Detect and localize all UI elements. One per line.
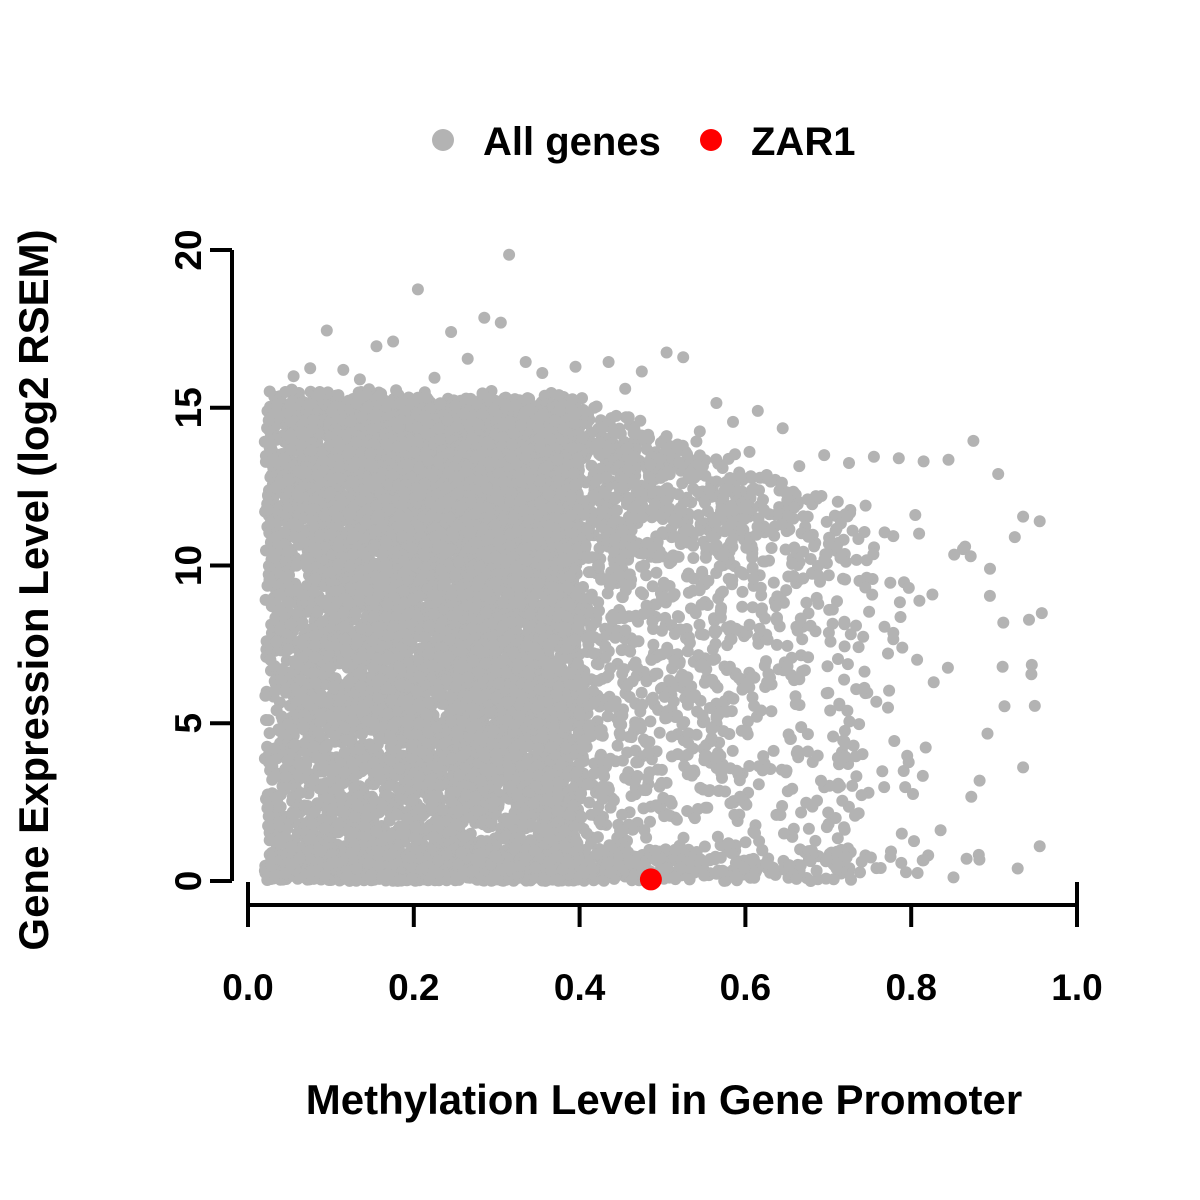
- data-point: [1036, 607, 1048, 619]
- data-point: [822, 660, 834, 672]
- data-point: [942, 662, 954, 674]
- data-point: [928, 676, 940, 688]
- data-point: [768, 577, 780, 589]
- data-point: [832, 496, 844, 508]
- data-point: [911, 654, 923, 666]
- data-point: [847, 525, 859, 537]
- data-point: [857, 631, 869, 643]
- data-point: [850, 620, 862, 632]
- data-point: [859, 666, 871, 678]
- data-point: [913, 595, 925, 607]
- data-point: [838, 674, 850, 686]
- data-point: [888, 735, 900, 747]
- data-point: [920, 742, 932, 754]
- data-point: [647, 639, 659, 651]
- data-point: [1023, 614, 1035, 626]
- data-point: [997, 617, 1009, 629]
- data-point: [792, 745, 804, 757]
- data-point: [812, 750, 824, 762]
- data-point: [917, 770, 929, 782]
- data-point: [895, 857, 907, 869]
- data-point: [768, 745, 780, 757]
- data-point: [781, 640, 793, 652]
- data-point: [884, 577, 896, 589]
- data-points-layer: [259, 249, 1048, 891]
- data-point: [926, 589, 938, 601]
- data-point: [882, 648, 894, 660]
- data-point: [753, 778, 765, 790]
- data-point: [687, 552, 699, 564]
- data-point: [839, 618, 851, 630]
- data-point: [871, 862, 883, 874]
- data-point: [650, 567, 662, 579]
- plot-canvas: 05101520 0.00.20.40.60.81.0 Gene Express…: [0, 0, 1200, 1200]
- data-point: [851, 554, 863, 566]
- data-point: [786, 558, 798, 570]
- data-point: [896, 642, 908, 654]
- data-point: [666, 731, 678, 743]
- data-point: [654, 727, 666, 739]
- scatter-plot-figure: 05101520 0.00.20.40.60.81.0 Gene Express…: [0, 0, 1200, 1200]
- data-point: [997, 661, 1009, 673]
